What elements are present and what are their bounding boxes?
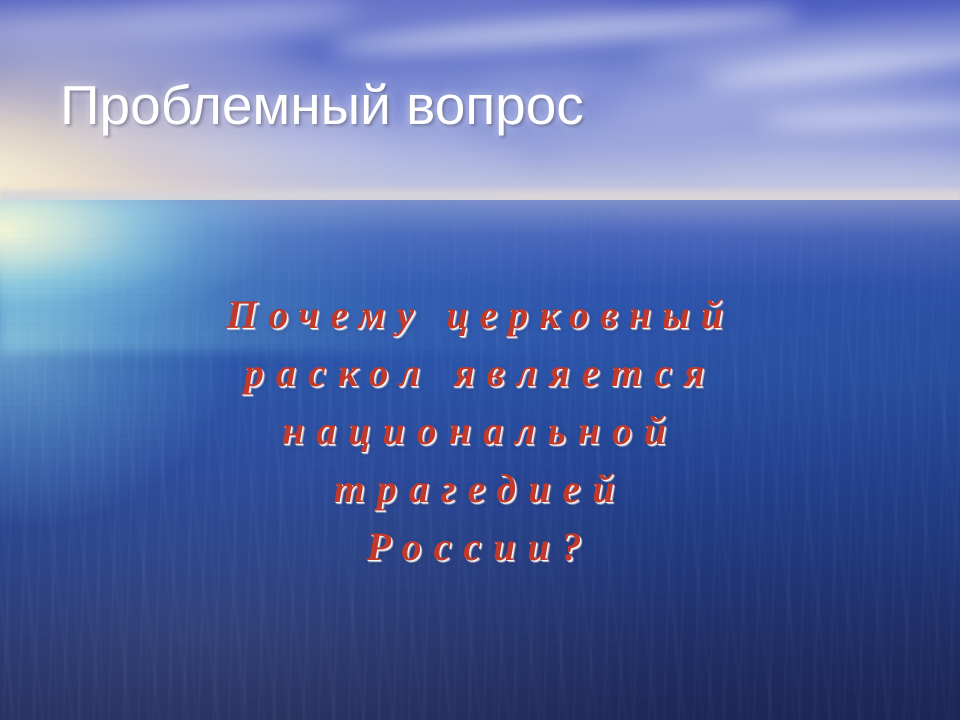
- body-line: Почему церковный: [0, 286, 960, 344]
- body-line: раскол является: [0, 344, 960, 402]
- body-line: России?: [0, 518, 960, 576]
- slide-body-text: Почему церковный раскол является национа…: [0, 286, 960, 576]
- body-line: национальной: [0, 402, 960, 460]
- body-line: трагедией: [0, 460, 960, 518]
- presentation-slide: Проблемный вопрос Почему церковный раско…: [0, 0, 960, 720]
- slide-title: Проблемный вопрос: [60, 74, 584, 136]
